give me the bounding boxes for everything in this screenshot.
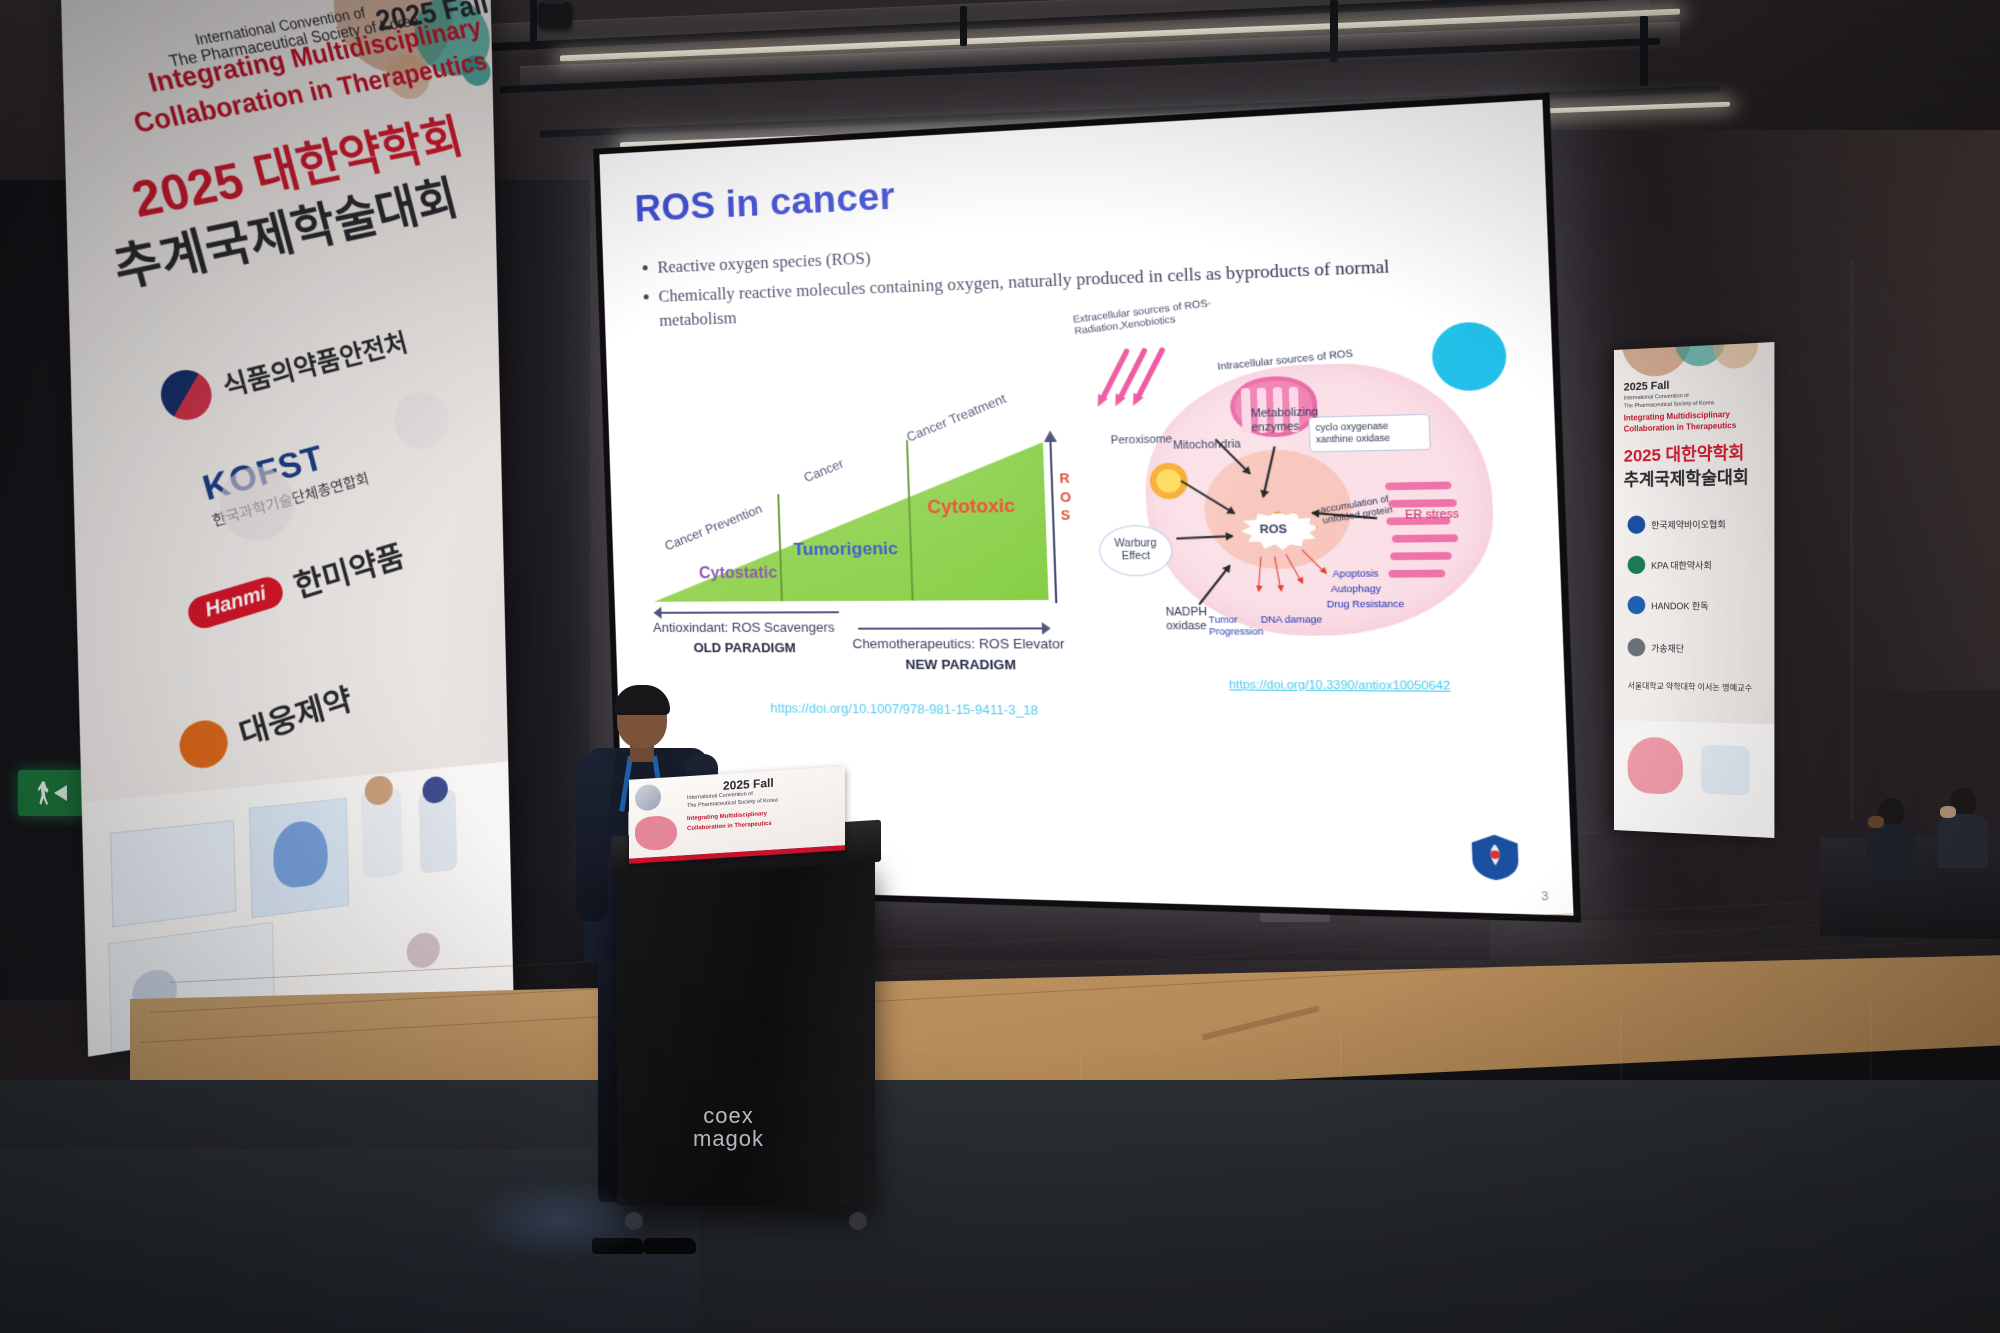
slide-accent-circle (1431, 321, 1508, 392)
gasong-logo-icon (1628, 638, 1646, 656)
exit-arrow-icon (54, 785, 67, 801)
running-man-icon (38, 781, 50, 805)
banner-right-sponsor: 서울대학교 약학대학 이서논 명예교수 (1628, 680, 1762, 694)
sponsor-name: 한국제약바이오협회 (1651, 517, 1726, 531)
daewoong-bear-icon (174, 714, 233, 774)
venue-logo: coexmagok (693, 1104, 764, 1151)
triangle-top-label: Cancer Prevention (663, 501, 764, 553)
new-paradigm-arrow (858, 627, 1049, 629)
old-paradigm-label: Antioxindant: ROS Scavengers (653, 619, 835, 635)
slide-bullet-text: Reactive oxygen species (ROS) (657, 246, 871, 279)
peroxisome-label: Peroxisome (1110, 433, 1172, 448)
speaker-hair (614, 685, 670, 715)
conference-hall-photo: International Convention of The Pharmace… (0, 0, 2000, 1333)
kpa-logo-icon (1628, 556, 1646, 574)
sponsor-daewoong: 대웅제약 (174, 674, 356, 775)
wall-seam (1850, 260, 1853, 820)
old-paradigm-bold: OLD PARADIGM (693, 640, 796, 655)
bullet-dot-icon (644, 295, 649, 300)
ros-axis-arrow (1049, 440, 1057, 603)
old-paradigm-arrow (654, 611, 838, 614)
sponsor-name: 한미약품 (288, 531, 408, 607)
society-logo-icon (1467, 831, 1524, 883)
podium-body (617, 858, 875, 1206)
triangle-segment-tumorigenic: Tumorigenic (793, 539, 898, 561)
warburg-effect-callout: Warburg Effect (1098, 525, 1173, 577)
endoplasmic-reticulum-icon (1385, 477, 1467, 583)
er-stress-label: ER stress (1405, 508, 1459, 523)
banner-right-sponsor: 한국제약바이오협회 (1628, 514, 1726, 534)
bullet-dot-icon (643, 265, 648, 270)
triangle-segment-cytotoxic: Cytotoxic (927, 495, 1015, 518)
new-paradigm-label: Chemotherapeutics: ROS Elevator (852, 636, 1065, 652)
banner-decor-dot (219, 466, 295, 542)
outcome-autophagy: Autophagy (1331, 583, 1382, 596)
ros-paradigm-figure: Cancer Prevention Cancer Cancer Treatmen… (633, 376, 1091, 693)
sponsor-mfds: 식품의약품안전처 (155, 317, 412, 425)
banner-decor-dot (1713, 342, 1758, 370)
banner-right-sponsor: 가송재단 (1628, 638, 1684, 657)
outcome-tumor-progression: Tumor Progression (1208, 614, 1254, 638)
truss-drop (1330, 0, 1338, 62)
speaker-shoe (644, 1238, 696, 1254)
podium-sign-logo-icon (635, 784, 661, 812)
outcome-dna-damage: DNA damage (1261, 614, 1323, 626)
podium-caster (849, 1212, 867, 1230)
outcome-apoptosis: Apoptosis (1332, 568, 1378, 581)
conference-banner-right: 2025 Fall International Convention of Th… (1614, 342, 1774, 838)
enzyme-callout-box: cyclo oxygenase xanthine oxidase (1308, 414, 1431, 453)
podium-sign-organ-icon (635, 815, 677, 852)
organ-illustration-icon (1628, 736, 1683, 794)
triangle-segment-cytostatic: Cytostatic (699, 564, 778, 583)
person-torso (1938, 814, 1988, 868)
person-face (1940, 806, 1956, 818)
truss-drop (1640, 16, 1648, 86)
lectern-podium: 2025 Fall International Convention of Th… (611, 782, 883, 1232)
new-paradigm-bold: NEW PARADIGM (905, 657, 1016, 673)
triangle-top-label: Cancer (802, 456, 846, 485)
mitochondria-label: Mitochondria (1173, 438, 1241, 453)
banner-right-sponsor: KPA 대한약사회 (1628, 555, 1712, 574)
outcome-drug-resistance: Drug Resistance (1327, 598, 1405, 611)
podium-caster (625, 1212, 643, 1230)
korea-flag-emblem-icon (155, 365, 217, 425)
stage-spotlight (538, 2, 572, 28)
triangle-source-link[interactable]: https://doi.org/10.1007/978-981-15-9411-… (770, 701, 1038, 718)
banner-illustration-chart (110, 820, 236, 927)
slide-number: 3 (1541, 890, 1549, 904)
sponsor-hanmi: Hanmi 한미약품 (182, 531, 408, 640)
truss-drop (530, 0, 537, 50)
kpbma-logo-icon (1628, 516, 1646, 534)
slide-title: ROS in cancer (634, 175, 895, 231)
banner-right-theme-2: Collaboration in Therapeutics (1624, 421, 1737, 434)
ros-cell-diagram: Extracellular sources of ROS- Radiation,… (1073, 289, 1549, 711)
banner-right-korean-2: 추계국제학술대회 (1624, 463, 1749, 491)
conference-banner-left: International Convention of The Pharmace… (60, 0, 514, 1057)
banner-right-sponsor: HANDOK 한독 (1628, 596, 1709, 614)
illustration-tile (1701, 745, 1750, 796)
ros-center-label: ROS (1259, 523, 1287, 536)
sponsor-name: KPA 대한약사회 (1651, 558, 1712, 571)
person-face (1868, 816, 1884, 828)
hanmi-logo: Hanmi (185, 573, 287, 632)
sponsor-name: HANDOK 한독 (1651, 599, 1708, 612)
sponsor-name: 식품의약품안전처 (218, 322, 411, 404)
metabolizing-enzymes-label: Metabolizing enzymes (1251, 406, 1321, 435)
banner-decor-dot (393, 392, 449, 450)
cell-diagram-source-link[interactable]: https://doi.org/10.3390/antiox10050642 (1229, 679, 1451, 693)
speaker-shoe (592, 1238, 644, 1254)
podium-sign-theme-1: Integrating Multidisciplinary (687, 811, 767, 822)
truss-drop (960, 6, 967, 46)
sponsor-name: 대웅제약 (233, 674, 356, 755)
banner-right-year: 2025 Fall (1624, 380, 1670, 394)
triangle-top-label: Cancer Treatment (904, 391, 1008, 444)
speaker-arm (576, 754, 608, 922)
banner-right-society-line: The Pharmaceutical Society of Korea (1624, 400, 1714, 409)
podium-sign-theme-2: Collaboration in Therapeutics (687, 821, 772, 832)
sponsor-name: 가송재단 (1651, 641, 1684, 655)
handok-logo-icon (1628, 596, 1646, 614)
ros-axis-label: ROS (1059, 469, 1073, 525)
exit-sign (18, 770, 86, 816)
banner-right-convention-line: International Convention of (1624, 393, 1689, 402)
person-torso (1866, 824, 1916, 878)
podium-sign: 2025 Fall International Convention of Th… (629, 766, 845, 864)
